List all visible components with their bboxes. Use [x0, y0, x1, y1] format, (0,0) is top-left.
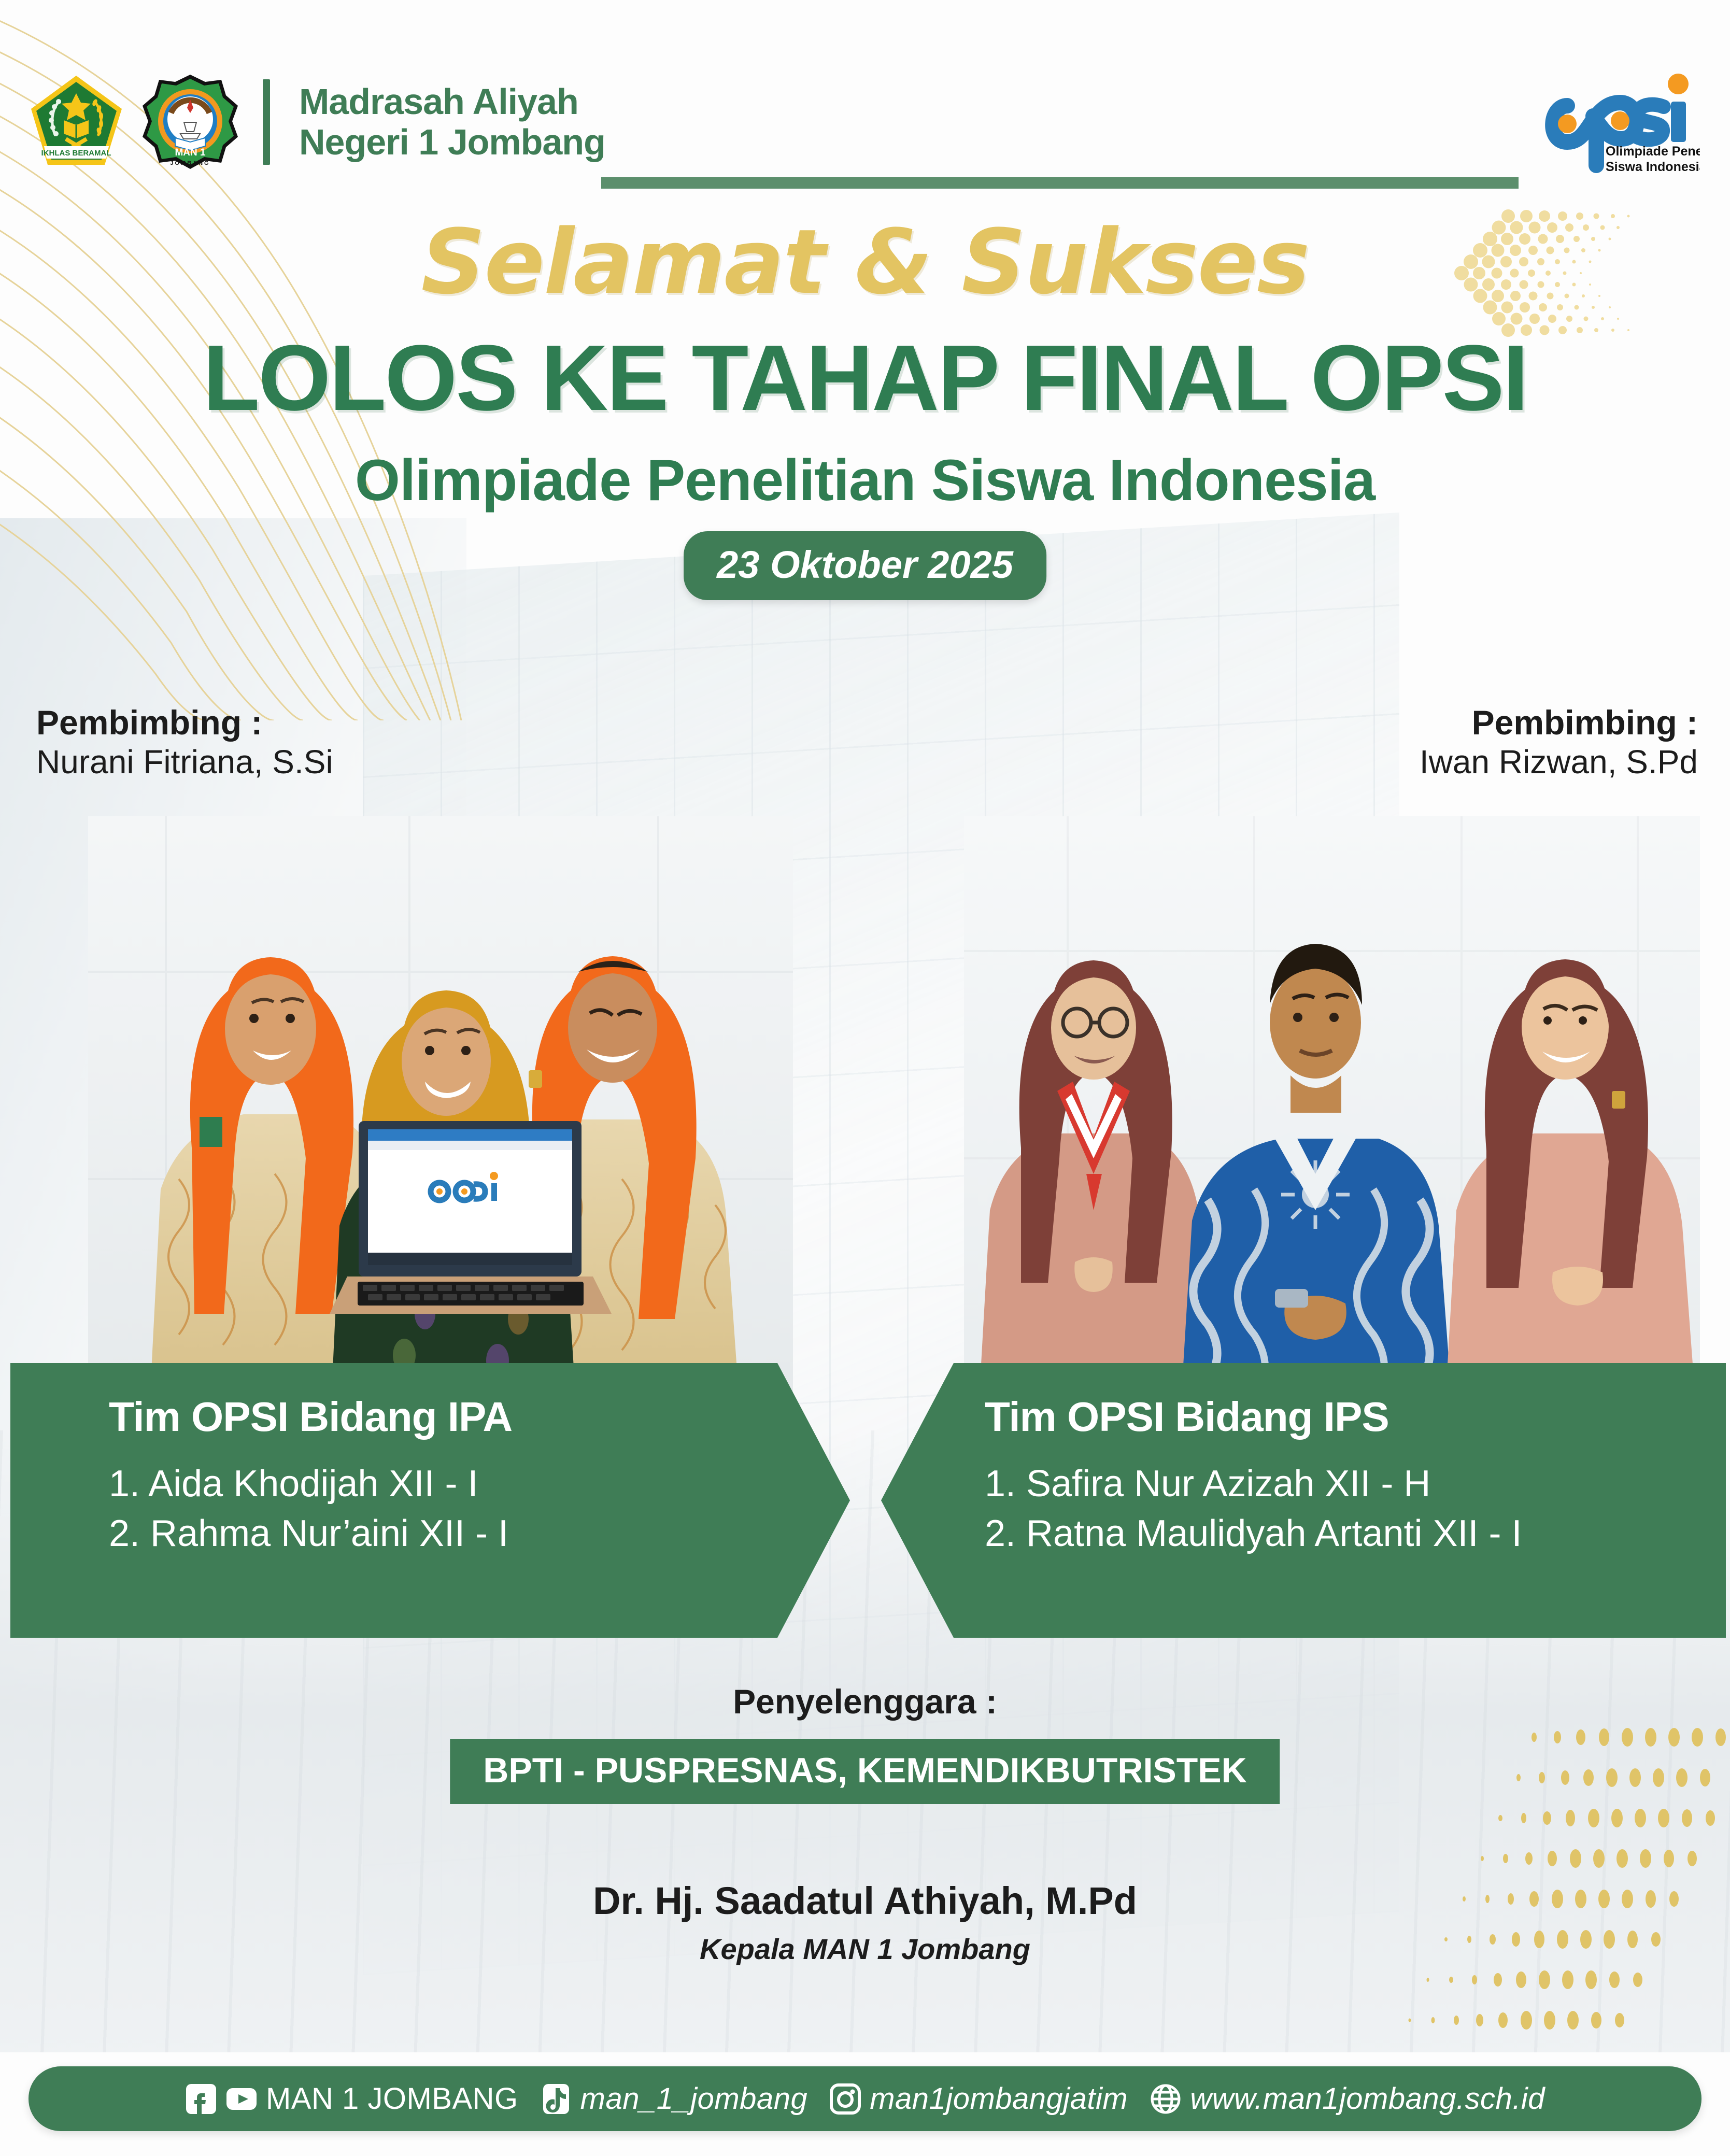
organizer-badge: BPTI - PUSPRESNAS, KEMENDIKBUTRISTEK	[450, 1739, 1280, 1804]
opsi-tagline-line-1: Olimpiade Penelitian	[1606, 144, 1700, 159]
facebook-icon[interactable]	[185, 2083, 217, 2115]
team-panels: Tim OPSI Bidang IPA 1. Aida Khodijah XII…	[0, 1363, 1730, 1638]
team-panel-ipa: Tim OPSI Bidang IPA 1. Aida Khodijah XII…	[10, 1363, 850, 1638]
instagram-icon[interactable]	[829, 2083, 861, 2115]
facebook-handle[interactable]: MAN 1 JOMBANG	[266, 2081, 518, 2116]
team-ipa-title: Tim OPSI Bidang IPA	[109, 1393, 850, 1441]
kemenag-logo-icon: IKHLAS BERAMAL	[29, 73, 124, 171]
globe-icon[interactable]	[1150, 2083, 1182, 2115]
school-name-line-1: Madrasah Aliyah	[299, 81, 605, 122]
main-headline: LOLOS KE TAHAP FINAL OPSI	[0, 332, 1730, 425]
header-logo-group: IKHLAS BERAMAL MAN 1 JOMBANG Madrasah Al…	[29, 62, 605, 181]
subtitle: Olimpiade Penelitian Siswa Indonesia	[0, 447, 1730, 514]
mentor-right-block: Pembimbing : Iwan Rizwan, S.Pd	[1420, 704, 1698, 782]
footer-website-group[interactable]: www.man1jombang.sch.id	[1150, 2081, 1545, 2116]
instagram-handle[interactable]: man1jombangjatim	[870, 2081, 1128, 2116]
svg-text:MAN 1: MAN 1	[175, 147, 206, 158]
svg-text:JOMBANG: JOMBANG	[170, 160, 210, 166]
team-ips-title: Tim OPSI Bidang IPS	[985, 1393, 1726, 1441]
team-ips-member-1: 1. Safira Nur Azizah XII - H	[985, 1459, 1726, 1509]
footer-facebook-youtube-group[interactable]: MAN 1 JOMBANG	[185, 2081, 518, 2116]
tiktok-icon[interactable]	[540, 2083, 572, 2115]
mentor-right-role: Pembimbing :	[1420, 704, 1698, 742]
congratulations-title: Selamat & Sukses	[0, 210, 1730, 314]
team-ips-photo	[964, 816, 1700, 1392]
header-vertical-divider	[263, 79, 270, 165]
poster-header: IKHLAS BERAMAL MAN 1 JOMBANG Madrasah Al…	[0, 62, 1730, 181]
mentor-left-name: Nurani Fitriana, S.Si	[36, 742, 333, 782]
opsi-logo-icon: Olimpiade Penelitian Siswa Indonesia	[1544, 69, 1700, 178]
team-ipa-member-2: 2. Rahma Nur’aini XII - I	[109, 1509, 850, 1559]
social-footer-bar: MAN 1 JOMBANG man_1_jombang man1jombangj…	[29, 2066, 1701, 2131]
team-ips-member-2: 2. Ratna Maulidyah Artanti XII - I	[985, 1509, 1726, 1559]
header-horizontal-rule	[601, 177, 1519, 189]
website-url[interactable]: www.man1jombang.sch.id	[1190, 2081, 1545, 2116]
svg-text:IKHLAS BERAMAL: IKHLAS BERAMAL	[41, 149, 111, 158]
opsi-tagline-line-2: Siswa Indonesia	[1606, 160, 1700, 174]
event-date-badge: 23 Oktober 2025	[684, 531, 1046, 600]
mentor-right-name: Iwan Rizwan, S.Pd	[1420, 742, 1698, 782]
youtube-icon[interactable]	[225, 2083, 258, 2115]
team-panel-ips: Tim OPSI Bidang IPS 1. Safira Nur Azizah…	[881, 1363, 1726, 1638]
principal-role: Kepala MAN 1 Jombang	[0, 1932, 1730, 1966]
team-ipa-photo	[88, 816, 793, 1392]
school-name-block: Madrasah Aliyah Negeri 1 Jombang	[299, 81, 605, 163]
team-ipa-member-1: 1. Aida Khodijah XII - I	[109, 1459, 850, 1509]
mentor-left-role: Pembimbing :	[36, 704, 333, 742]
poster-canvas: IKHLAS BERAMAL MAN 1 JOMBANG Madrasah Al…	[0, 0, 1730, 2156]
footer-instagram-group[interactable]: man1jombangjatim	[829, 2081, 1128, 2116]
man1-jombang-logo-icon: MAN 1 JOMBANG	[140, 73, 241, 171]
school-name-line-2: Negeri 1 Jombang	[299, 122, 605, 162]
tiktok-handle[interactable]: man_1_jombang	[580, 2081, 808, 2116]
footer-tiktok-group[interactable]: man_1_jombang	[540, 2081, 808, 2116]
mentor-left-block: Pembimbing : Nurani Fitriana, S.Si	[36, 704, 333, 782]
principal-name: Dr. Hj. Saadatul Athiyah, M.Pd	[0, 1879, 1730, 1923]
organizer-label: Penyelenggara :	[0, 1682, 1730, 1721]
